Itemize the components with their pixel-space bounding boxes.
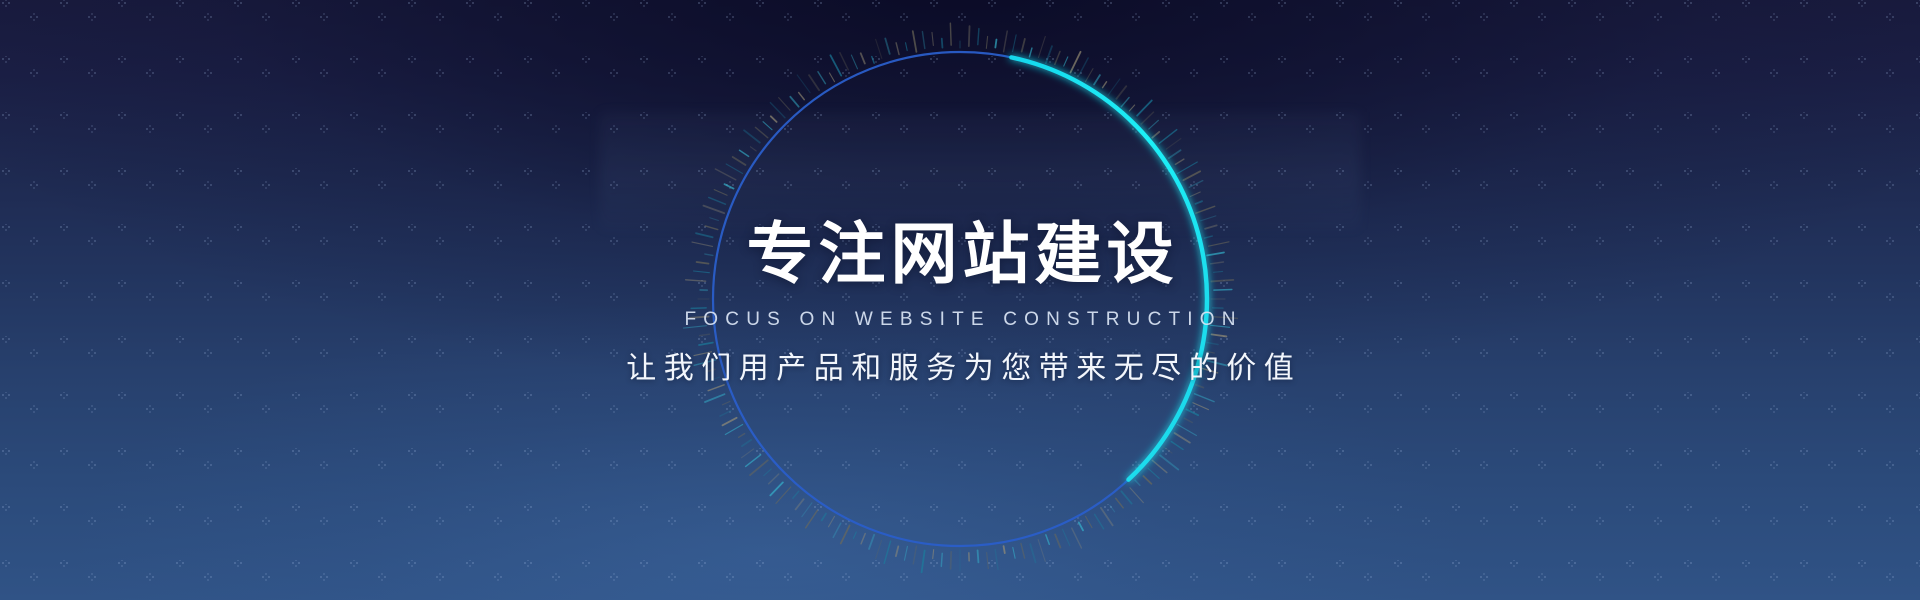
subtitle-english: FOCUS ON WEBSITE CONSTRUCTION <box>677 310 1242 329</box>
hero-banner: 专注网站建设 FOCUS ON WEBSITE CONSTRUCTION 让我们… <box>0 0 1920 600</box>
hero-copy-block: 专注网站建设 FOCUS ON WEBSITE CONSTRUCTION 让我们… <box>0 0 1920 600</box>
page-title: 专注网站建设 <box>742 217 1179 288</box>
subtitle-chinese: 让我们用产品和服务为您带来无尽的价值 <box>619 354 1302 384</box>
